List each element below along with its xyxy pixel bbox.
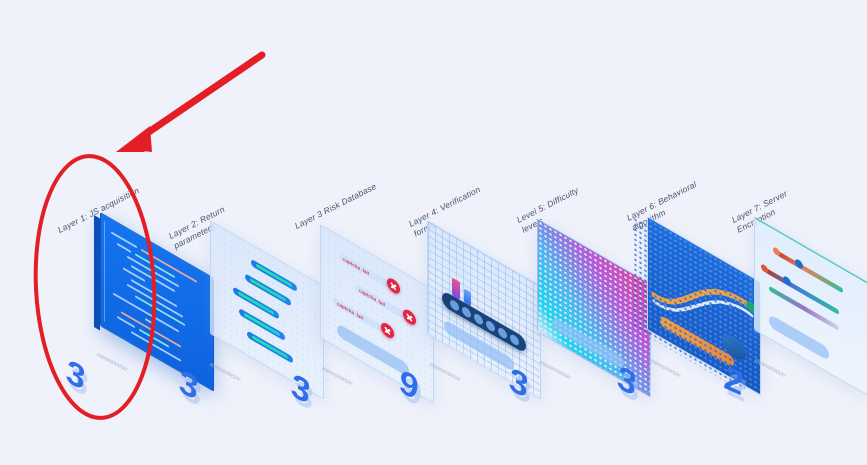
layer-caption-1: технологии: [95, 352, 128, 373]
layer-caption-2: технологии: [208, 362, 241, 383]
layer-number-5: 3: [508, 359, 529, 408]
layer-caption-3: технологии: [320, 366, 353, 387]
diagram-canvas: Layer 1: JS acquisition: [0, 0, 867, 465]
layer-number-1: 3: [65, 351, 86, 400]
layer-caption-6: технологии: [648, 358, 681, 379]
layer-caption-7: технологии: [753, 358, 786, 379]
annotation-arrow: [116, 55, 262, 152]
layer-card-7[interactable]: Layer 7: Server Encryption технологии 2: [702, 172, 862, 402]
layer-number-6: 3: [616, 357, 637, 406]
layer-caption-4: технологии: [428, 362, 461, 383]
layer-number-2: 3: [178, 361, 199, 410]
layer-number-3: 3: [290, 365, 311, 414]
layer-title-7: Layer 7: Server Encryption: [730, 162, 847, 236]
encryption-key-1: [777, 250, 843, 293]
layer-caption-5: технологии: [538, 360, 571, 381]
layer-number-4: 9: [398, 361, 419, 410]
layer-number-7: 2: [723, 357, 744, 406]
